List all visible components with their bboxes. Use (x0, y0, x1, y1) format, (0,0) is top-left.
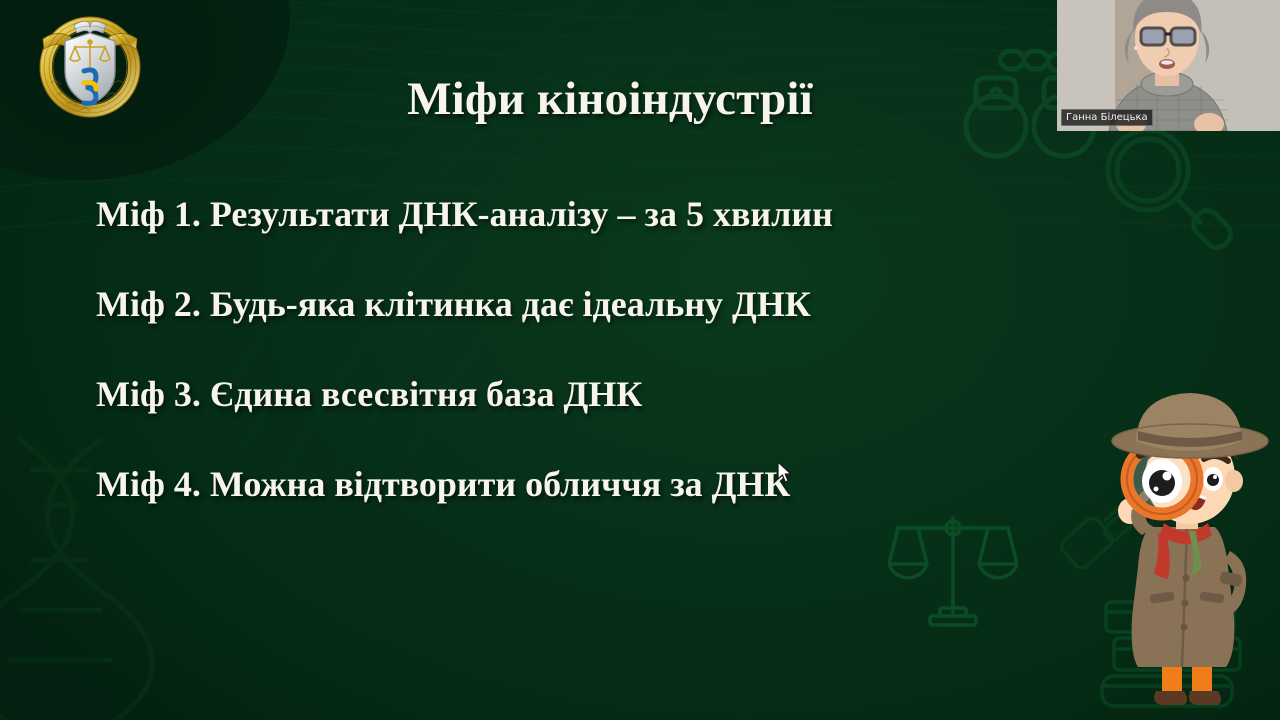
mouse-cursor (777, 461, 793, 485)
list-item: Міф 1. Результати ДНК-аналізу – за 5 хви… (96, 196, 1156, 232)
list-item: Міф 3. Єдина всесвітня база ДНК (96, 376, 1156, 412)
list-item: Міф 2. Будь-яка клітинка дає ідеальну ДН… (96, 286, 1156, 322)
myth-list: Міф 1. Результати ДНК-аналізу – за 5 хви… (96, 196, 1156, 502)
scales-of-justice-icon (888, 512, 1018, 632)
presentation-slide: Міфи кіноіндустрії Міф 1. Результати ДНК… (0, 0, 1280, 720)
list-item: Міф 4. Можна відтворити обличчя за ДНК (96, 466, 1156, 502)
detective-character-illustration (1080, 375, 1280, 720)
video-participant-tile[interactable]: Ганна Білецька (1057, 0, 1280, 131)
participant-name-badge: Ганна Білецька (1061, 109, 1153, 126)
